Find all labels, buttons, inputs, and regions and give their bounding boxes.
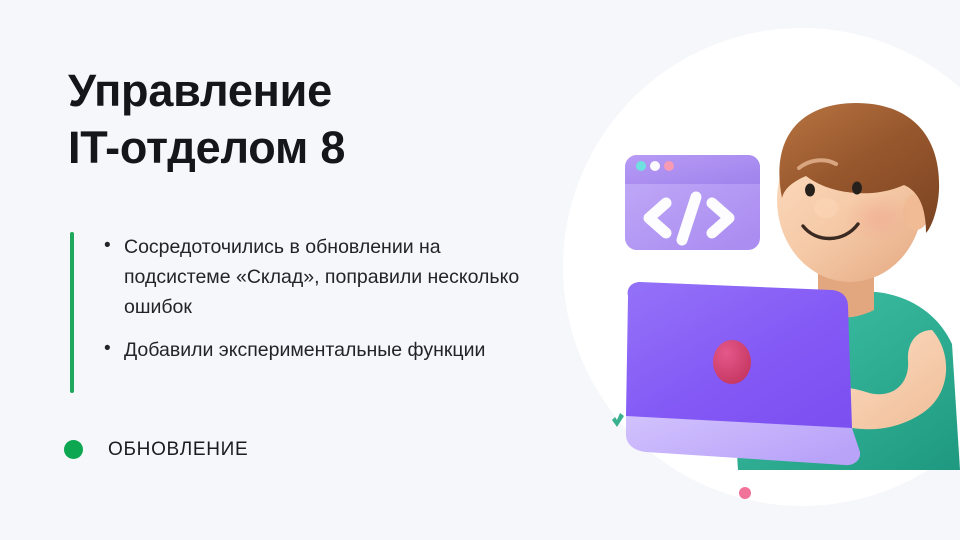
green-accent-bar bbox=[70, 232, 74, 393]
bullet-block: Сосредоточились в обновлении на подсисте… bbox=[70, 232, 530, 365]
slide-root: Управление IT-отделом 8 Сосредоточились … bbox=[0, 0, 960, 540]
illustration bbox=[560, 0, 960, 540]
bullet-list: Сосредоточились в обновлении на подсисте… bbox=[98, 232, 530, 365]
list-item: Сосредоточились в обновлении на подсисте… bbox=[98, 232, 530, 322]
title-block: Управление IT-отделом 8 bbox=[68, 62, 538, 176]
footer-tag: ОБНОВЛЕНИЕ bbox=[64, 440, 248, 459]
laptop-logo bbox=[713, 340, 751, 384]
green-dot-icon bbox=[64, 440, 83, 459]
code-window-icon bbox=[625, 155, 760, 250]
page-title: Управление IT-отделом 8 bbox=[68, 62, 538, 176]
pink-dot-speck bbox=[739, 487, 751, 499]
footer-tag-label: ОБНОВЛЕНИЕ bbox=[108, 440, 248, 459]
green-check-speck bbox=[612, 413, 624, 427]
list-item: Добавили экспериментальные функции bbox=[98, 335, 530, 365]
laptop bbox=[626, 282, 860, 465]
